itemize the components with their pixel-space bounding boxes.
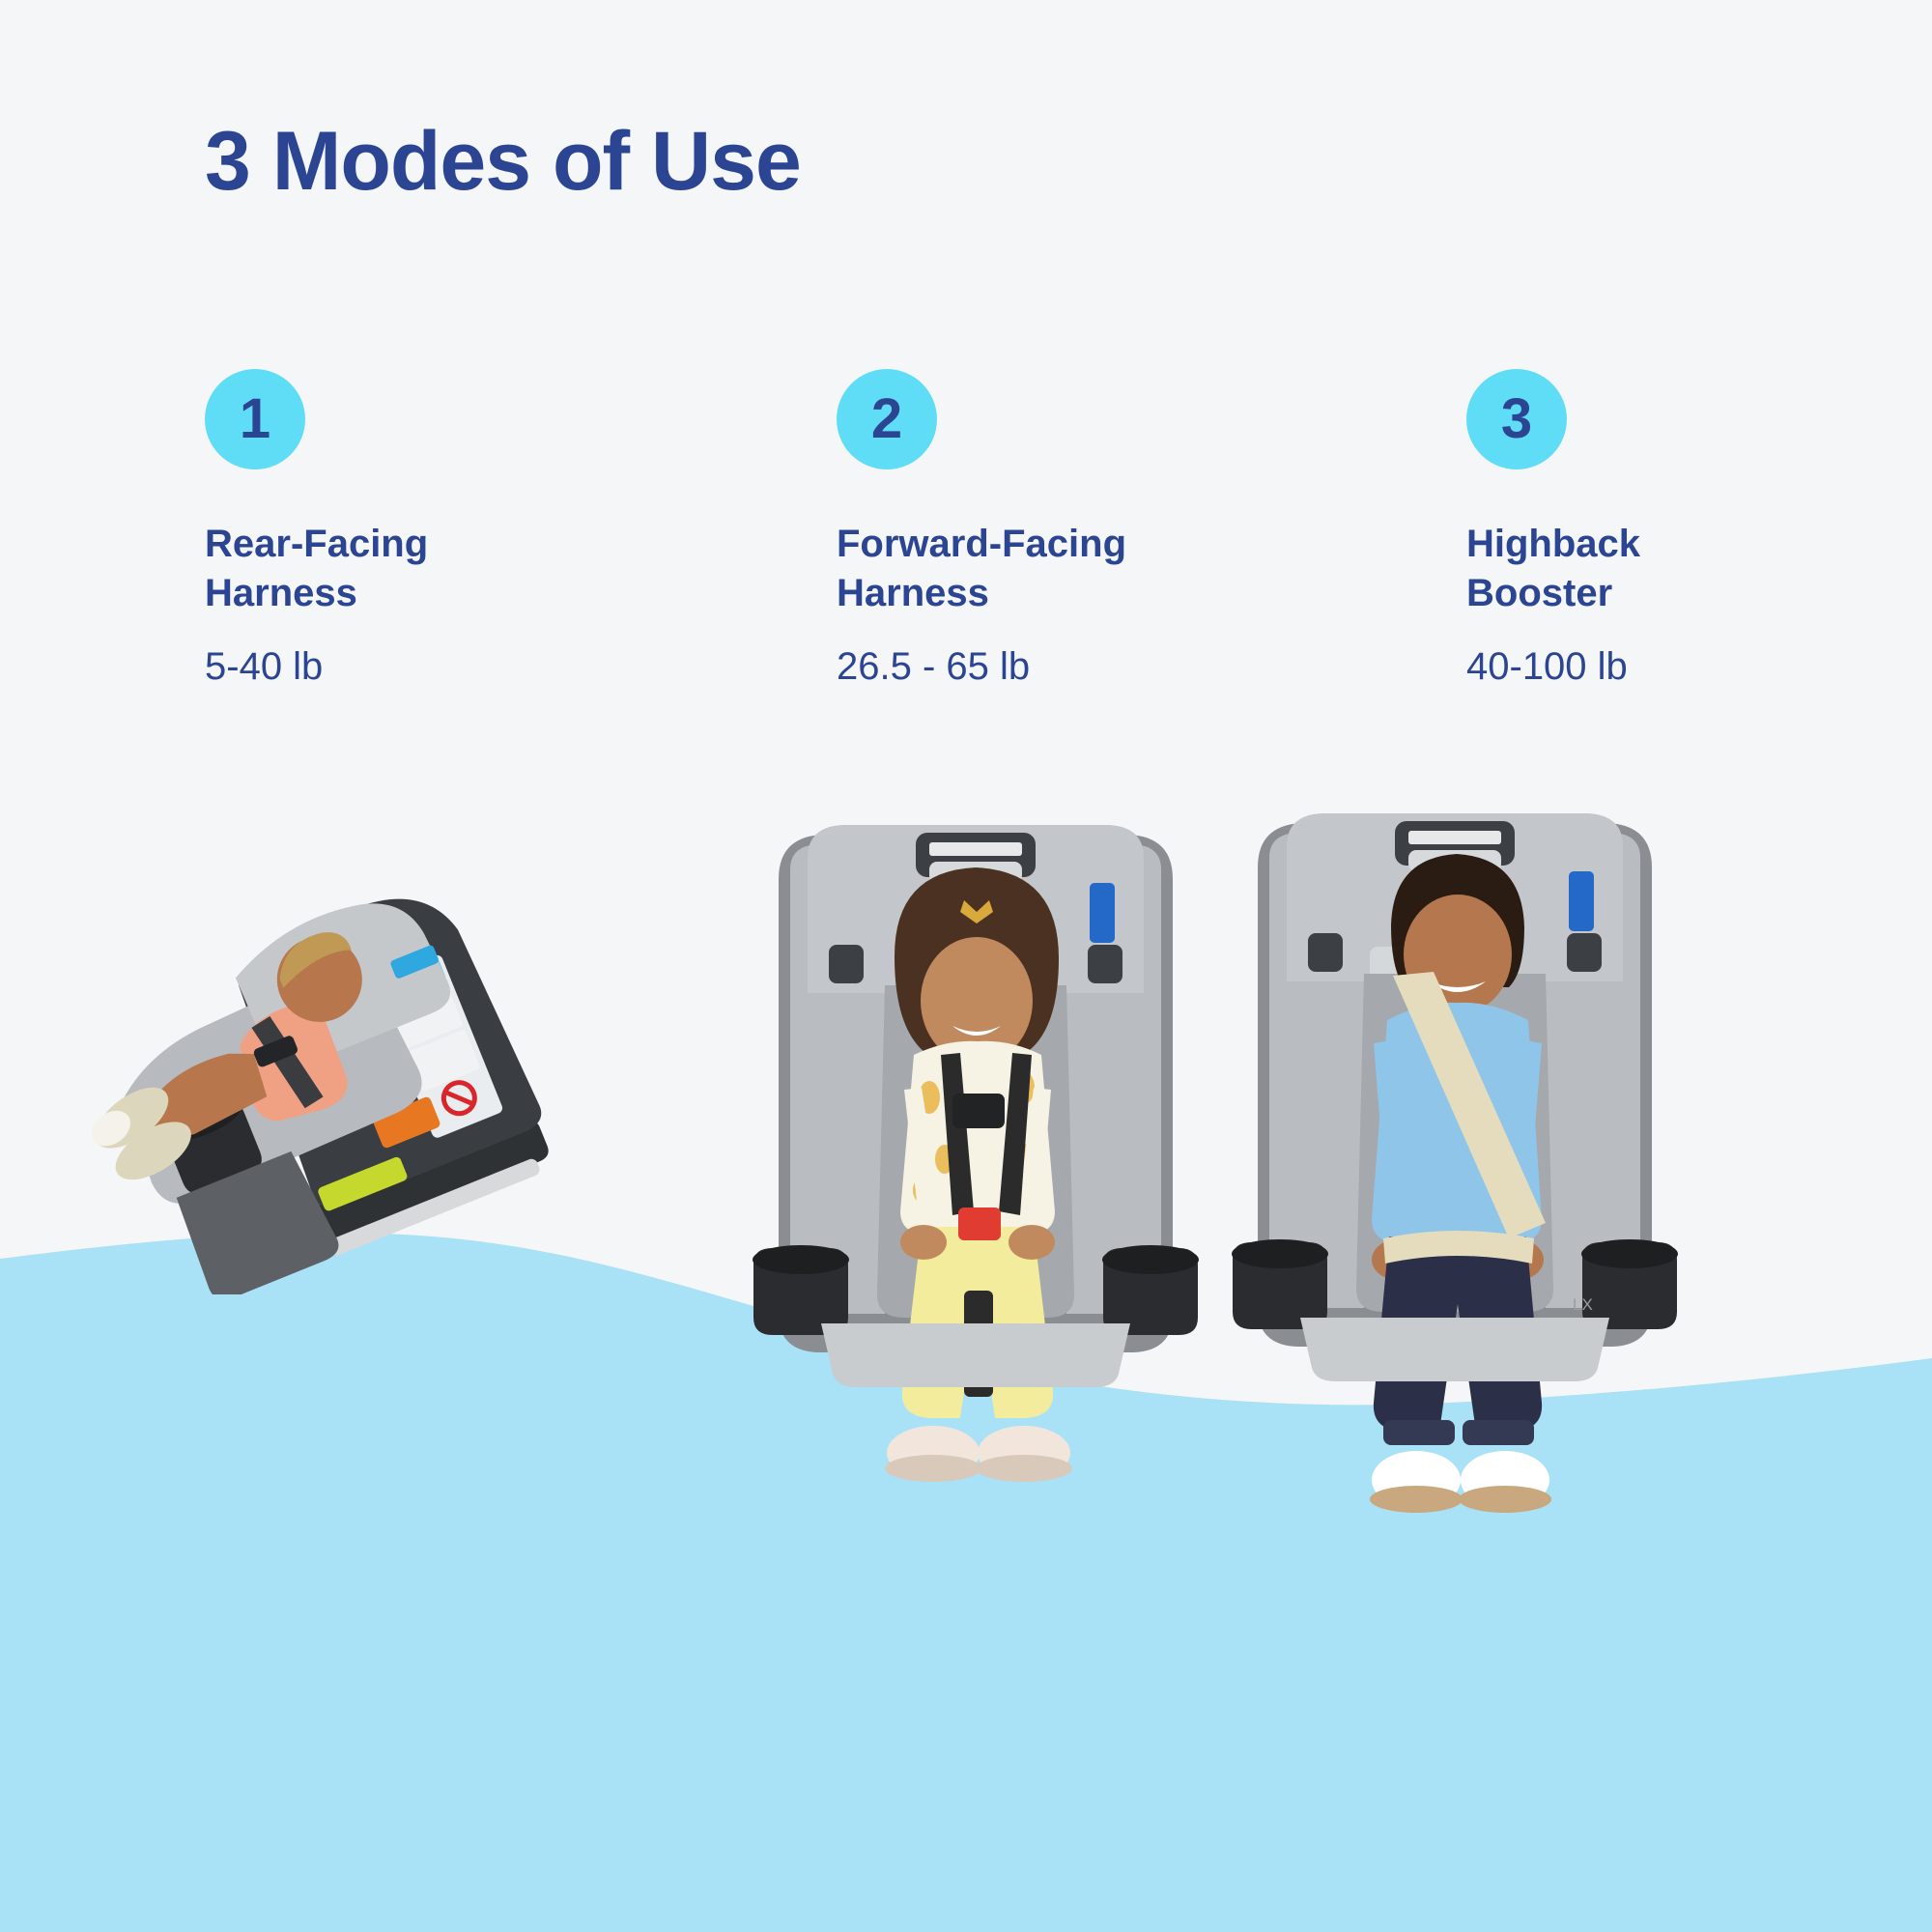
headrest-handle <box>916 833 1036 877</box>
child-shoes <box>885 1426 1072 1482</box>
seat-base <box>294 1117 552 1254</box>
instruction-label <box>389 984 481 1092</box>
headrest <box>226 881 457 1077</box>
side-impact-badge-left <box>829 945 864 983</box>
child-rear-facing <box>49 923 406 1198</box>
seat-shell <box>1258 823 1652 1347</box>
cup-holder-right-rim <box>1102 1245 1199 1274</box>
mode-badge-1: 1 <box>205 369 305 469</box>
chest-clip <box>252 1035 298 1068</box>
seat-pad <box>102 952 433 1213</box>
child-head <box>921 937 1033 1065</box>
child-arm-left <box>904 1088 943 1227</box>
product-photo-highback-booster: LX <box>1194 802 1716 1575</box>
mode-column-highback-booster: 3 Highback Booster 40-100 lb <box>1466 369 1640 690</box>
mode-weight-2: 26.5 - 65 lb <box>837 643 1126 690</box>
child-hand-right <box>1486 1238 1544 1281</box>
child-hand-left <box>1372 1238 1430 1281</box>
mode-title-2: Forward-Facing Harness <box>837 520 1126 618</box>
child-torso <box>224 995 356 1133</box>
cup-holder-right <box>1582 1242 1677 1329</box>
cup-holder-right <box>1103 1248 1198 1335</box>
warning-label-header <box>376 958 446 1004</box>
child-hand-right <box>1009 1225 1055 1260</box>
mode-weight-1: 5-40 lb <box>205 643 428 690</box>
child-hair <box>270 923 355 987</box>
background-wave <box>0 0 1932 1932</box>
headrest <box>808 825 1144 993</box>
child-head <box>265 924 376 1036</box>
product-photo-rear-facing <box>29 811 628 1294</box>
seat-wing-left <box>790 844 885 1314</box>
mode-weight-3: 40-100 lb <box>1466 643 1640 690</box>
chicco-tag <box>1569 871 1594 931</box>
no-symbol-icon <box>440 1078 480 1119</box>
hair-clip-butterfly-icon <box>960 900 993 923</box>
child-hand-left <box>900 1225 947 1260</box>
cup-holder-left-rim <box>1232 1239 1328 1268</box>
child-arm-left <box>1374 1039 1416 1213</box>
mode-badge-number: 2 <box>871 391 902 447</box>
seat-pad <box>877 985 1074 1318</box>
headrest-handle-label <box>1408 831 1501 844</box>
harness-tail <box>964 1291 993 1397</box>
child-pants <box>902 1227 1053 1418</box>
harness-system <box>941 1053 1032 1397</box>
no-symbol-slash <box>445 1084 473 1112</box>
harness-strap <box>250 1009 325 1115</box>
harness-strap-right <box>999 1053 1032 1215</box>
cup-holder-left-rim <box>753 1245 849 1274</box>
child-hair <box>1391 854 1524 987</box>
chest-clip <box>952 1094 1005 1128</box>
child-smile <box>1430 981 1486 992</box>
page-background <box>0 0 1932 1932</box>
child-head <box>1404 895 1512 1014</box>
mode-badge-3: 3 <box>1466 369 1567 469</box>
side-impact-badge <box>283 957 319 994</box>
side-impact-badge-right <box>1567 933 1602 972</box>
belt-guide <box>1370 947 1403 993</box>
cup-holder-left <box>1233 1242 1327 1329</box>
cup-holder-left <box>753 1248 848 1335</box>
mode-badge-number: 1 <box>240 391 270 447</box>
vehicle-seatbelt <box>1383 972 1546 1264</box>
seat-base <box>821 1323 1130 1387</box>
seat-wing-right <box>1066 844 1161 1314</box>
child-torso <box>1372 1003 1542 1244</box>
mode-badge-2: 2 <box>837 369 937 469</box>
chicco-tag <box>389 944 440 980</box>
child-shoes <box>76 1069 207 1198</box>
seat-wing-left <box>1269 833 1364 1308</box>
headrest-handle-label <box>929 842 1022 856</box>
seat-shell <box>779 835 1173 1352</box>
child-forward-facing <box>885 867 1072 1482</box>
seat-wing-right <box>1546 833 1640 1308</box>
side-impact-badge-left <box>1308 933 1343 972</box>
wave-shape <box>0 1233 1932 1932</box>
headrest <box>1287 813 1623 981</box>
cup-holder <box>160 1096 267 1199</box>
headrest-handle <box>1395 821 1515 866</box>
mode-column-forward-facing: 2 Forward-Facing Harness 26.5 - 65 lb <box>837 369 1126 690</box>
harness-strap-left <box>941 1053 974 1215</box>
cup-holder-rim <box>162 1095 245 1149</box>
cup-holder-right-rim <box>1581 1239 1678 1268</box>
product-photo-forward-facing <box>715 811 1236 1565</box>
chicco-tag <box>1090 883 1115 943</box>
child-arm-right <box>1499 1039 1542 1213</box>
base-foot <box>327 1157 542 1258</box>
child-arm-right <box>1016 1088 1051 1227</box>
product-photo-stage: LX <box>0 0 1932 1932</box>
pants-cuff-right <box>1463 1420 1534 1445</box>
seat-base <box>1300 1318 1609 1381</box>
child-hair <box>895 867 1059 1053</box>
mode-title-1: Rear-Facing Harness <box>205 520 428 618</box>
seat-pad <box>1356 974 1553 1312</box>
headrest-handle-grip <box>1408 850 1501 871</box>
booster-label <box>317 1155 409 1212</box>
child-torso-top <box>900 1041 1055 1235</box>
mode-title-3: Highback Booster <box>1466 520 1640 618</box>
model-label-lx: LX <box>1573 1295 1593 1314</box>
crotch-buckle[interactable] <box>958 1207 1001 1240</box>
page-title: 3 Modes of Use <box>205 114 801 210</box>
child-pants <box>1374 1236 1542 1432</box>
yellow-label <box>330 989 381 1025</box>
side-impact-badge-right <box>1088 945 1122 983</box>
orange-label <box>372 1095 441 1149</box>
child-smile <box>952 1026 1001 1036</box>
headrest-handle-grip <box>929 862 1022 883</box>
mode-badge-number: 3 <box>1501 391 1532 447</box>
child-booster <box>1370 854 1551 1513</box>
seat-shell <box>218 870 547 1214</box>
child-shoes <box>1370 1451 1551 1513</box>
warning-label <box>371 953 504 1139</box>
child-top-pattern <box>913 1071 1039 1203</box>
child-legs <box>138 1043 273 1148</box>
mode-column-rear-facing: 1 Rear-Facing Harness 5-40 lb <box>205 369 428 690</box>
pants-cuff-left <box>1383 1420 1455 1445</box>
seat-skirt <box>173 1148 343 1294</box>
